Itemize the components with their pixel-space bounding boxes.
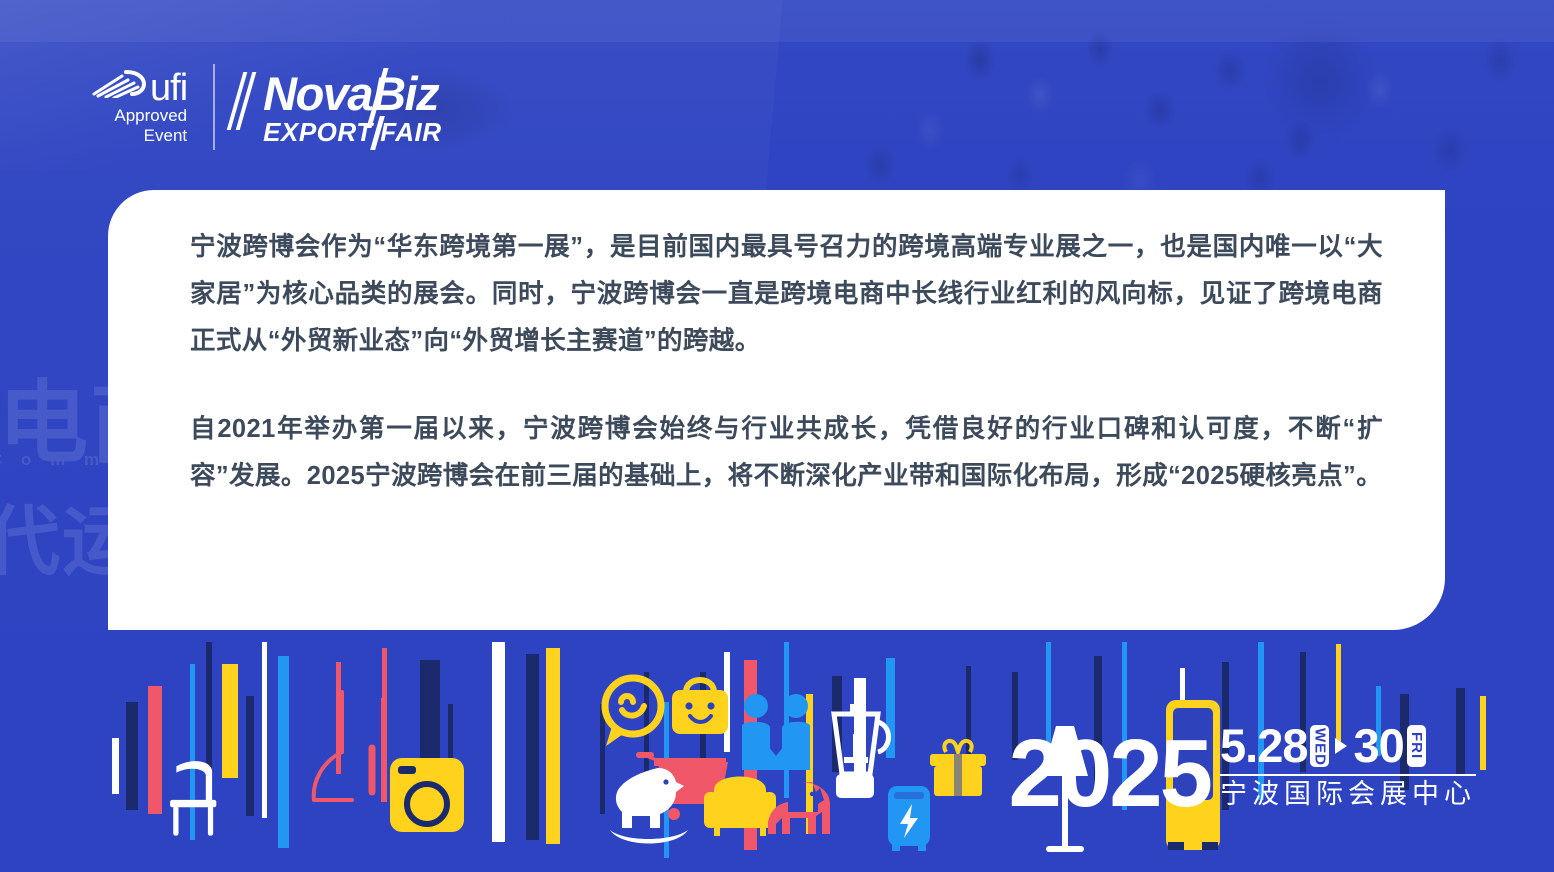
chat-bubble-smile-icon xyxy=(605,678,661,746)
strip-bar xyxy=(126,702,138,810)
ufi-approved-event-logo: ufi Approved Event xyxy=(92,68,213,145)
strip-bar xyxy=(492,642,505,842)
event-date-block: 2025 5.28 WED 30 FRI 宁波国际会展中心 xyxy=(1008,724,1476,814)
strip-bar xyxy=(222,664,238,778)
strip-bar xyxy=(112,738,119,794)
ufi-wordmark-row: ufi xyxy=(92,68,187,106)
date-range-arrow-icon xyxy=(1335,738,1347,754)
event-year: 2025 xyxy=(1008,735,1210,814)
strip-bar xyxy=(246,696,254,816)
event-end-date: 30 xyxy=(1353,724,1403,769)
paragraph-2: 自2021年举办第一届以来，宁波跨博会始终与行业共成长，凭借良好的行业口碑和认可… xyxy=(190,406,1383,500)
poster-root: 电商 C o m m e r c e 代运营 跨境 xyxy=(0,0,1554,872)
strip-bar xyxy=(784,642,789,798)
export-fair-wordmark: EXPORT FAIR xyxy=(241,119,441,145)
date-divider-rule xyxy=(1220,774,1476,776)
strip-bar xyxy=(206,642,212,774)
strip-bar xyxy=(600,704,605,814)
strip-bar xyxy=(526,654,539,840)
ufi-approved-label: Approved xyxy=(114,106,187,126)
strip-bar xyxy=(278,656,289,848)
dog-icon xyxy=(768,782,830,834)
gift-box-icon xyxy=(930,741,986,796)
header-logo-row: ufi Approved Event NovaBiz EXPORT FAIR xyxy=(92,64,442,150)
event-date-details: 5.28 WED 30 FRI 宁波国际会展中心 xyxy=(1220,724,1476,814)
ufi-wordmark: ufi xyxy=(150,70,187,106)
paragraph-1: 宁波跨博会作为“华东跨境第一展”，是目前国内最具号召力的跨境高端专业展之一，也是… xyxy=(190,224,1383,366)
swoosh-icon xyxy=(92,68,148,102)
event-end-weekday-badge: FRI xyxy=(1407,725,1426,767)
blender-base xyxy=(836,774,874,798)
strip-bar xyxy=(190,664,195,840)
vacuum-cleaner-icon xyxy=(314,692,372,800)
novabiz-export-fair-logo: NovaBiz EXPORT FAIR xyxy=(215,70,441,145)
power-bank-icon xyxy=(888,786,930,851)
event-date-line: 5.28 WED 30 FRI xyxy=(1220,724,1476,769)
novabiz-wordmark: NovaBiz xyxy=(241,70,441,117)
vacuum-head-bar xyxy=(381,698,387,802)
strip-bar xyxy=(262,642,267,818)
strip-bar xyxy=(148,686,162,814)
event-venue: 宁波国际会展中心 xyxy=(1220,780,1476,810)
people-handshake-icon xyxy=(742,694,810,770)
strip-bar xyxy=(546,648,560,844)
content-card: 宁波跨博会作为“华东跨境第一展”，是目前国内最具号召力的跨境高端专业展之一，也是… xyxy=(108,190,1445,630)
strip-bar xyxy=(1480,696,1486,770)
ufi-event-label: Event xyxy=(144,126,187,146)
washing-machine-icon xyxy=(390,758,464,832)
event-start-date: 5.28 xyxy=(1220,724,1307,769)
event-start-weekday-badge: WED xyxy=(1310,725,1329,767)
